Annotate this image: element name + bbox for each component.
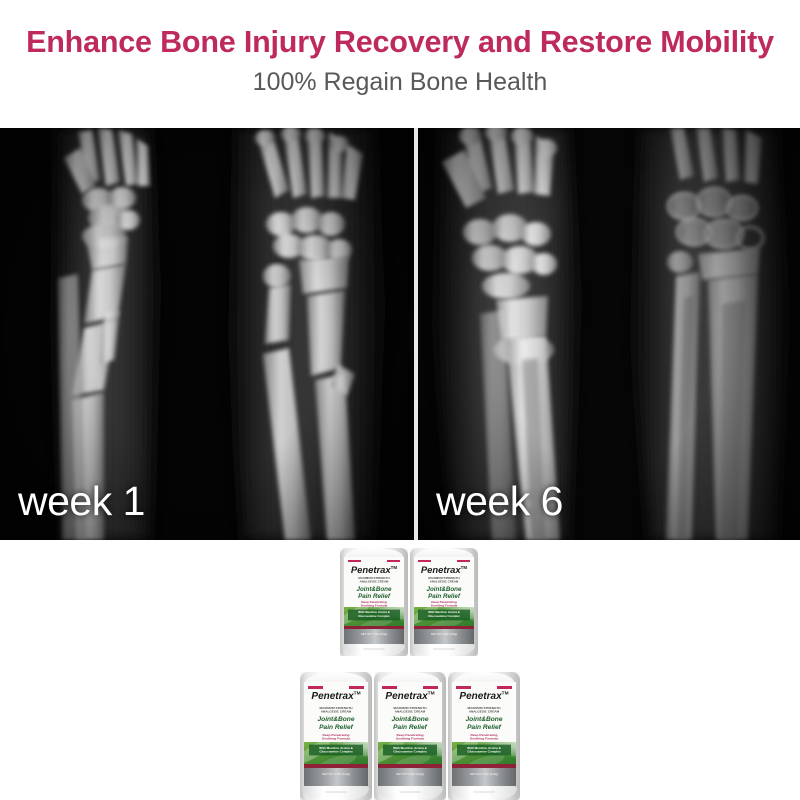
brand-subtitle-line2: ANALGESIC CREAM	[344, 581, 404, 585]
brand-name: PenetraxTM	[344, 565, 404, 574]
benefit-text: Deep Penetrating Soothing Formula	[452, 733, 515, 741]
tube-bottom-right[interactable]: PenetraxTM MAXIMUM STRENGTH ANALGESIC CR…	[448, 672, 520, 800]
page-title: Enhance Bone Injury Recovery and Restore…	[0, 0, 800, 60]
week-label-before: week 1	[18, 481, 145, 522]
brand-name: PenetraxTM	[414, 565, 474, 574]
brand-subtitle-line2: ANALGESIC CREAM	[378, 710, 441, 714]
brand-name: PenetraxTM	[452, 692, 515, 702]
claim-line2: Pain Relief	[414, 593, 474, 600]
week-label-after: week 6	[436, 481, 563, 522]
botanical-graphic: With Menthol, Arnica & Glucosamine Compl…	[304, 742, 367, 764]
callout-line2: Glucosamine Complex	[418, 615, 469, 618]
claim-line2: Pain Relief	[452, 724, 515, 732]
net-weight: NET WT 4 OZ (113g)	[344, 633, 404, 636]
benefit-line2: Soothing Formula	[378, 737, 441, 741]
label-accent-ticks	[418, 560, 471, 562]
tube-label: PenetraxTM MAXIMUM STRENGTH ANALGESIC CR…	[304, 682, 367, 786]
cap-band: NET WT 4 OZ (113g)	[344, 629, 404, 644]
brand-subtitle: MAXIMUM STRENGTH ANALGESIC CREAM	[452, 706, 515, 714]
tube-base	[343, 644, 406, 656]
tube-top-left[interactable]: PenetraxTM MAXIMUM STRENGTH ANALGESIC CR…	[340, 548, 408, 656]
ingredient-callout: With Menthol, Arnica & Glucosamine Compl…	[348, 609, 399, 619]
callout-line2: Glucosamine Complex	[383, 750, 438, 754]
tube-base	[451, 786, 517, 800]
brand-name: PenetraxTM	[304, 692, 367, 702]
callout-line2: Glucosamine Complex	[348, 615, 399, 618]
benefit-line2: Soothing Formula	[304, 737, 367, 741]
xray-panel-before: week 1	[0, 128, 414, 540]
ingredient-callout: With Menthol, Arnica & Glucosamine Compl…	[309, 745, 364, 756]
botanical-graphic: With Menthol, Arnica & Glucosamine Compl…	[414, 607, 474, 625]
brand-subtitle: MAXIMUM STRENGTH ANALGESIC CREAM	[378, 706, 441, 714]
brand-text: Penetrax	[459, 691, 501, 702]
brand-text: Penetrax	[311, 691, 353, 702]
tube-top-right[interactable]: PenetraxTM MAXIMUM STRENGTH ANALGESIC CR…	[410, 548, 478, 656]
label-accent-ticks	[456, 686, 512, 689]
cap-band: NET WT 4 OZ (113g)	[304, 768, 367, 786]
claim-line2: Pain Relief	[378, 724, 441, 732]
benefit-line1: Deep Penetrating	[414, 600, 474, 604]
tube-label: PenetraxTM MAXIMUM STRENGTH ANALGESIC CR…	[378, 682, 441, 786]
label-accent-ticks	[382, 686, 438, 689]
brand-subtitle: MAXIMUM STRENGTH ANALGESIC CREAM	[344, 577, 404, 584]
product-showcase: PenetraxTM MAXIMUM STRENGTH ANALGESIC CR…	[0, 540, 800, 800]
xray-panel-after: week 6	[418, 128, 800, 540]
claim-line2: Pain Relief	[344, 593, 404, 600]
brand-subtitle: MAXIMUM STRENGTH ANALGESIC CREAM	[414, 577, 474, 584]
claim-line1: Joint&Bone	[414, 586, 474, 593]
tube-bottom-center[interactable]: PenetraxTM MAXIMUM STRENGTH ANALGESIC CR…	[374, 672, 446, 800]
label-accent-ticks	[348, 560, 401, 562]
cap-band: NET WT 4 OZ (113g)	[452, 768, 515, 786]
benefit-line1: Deep Penetrating	[344, 600, 404, 604]
brand-subtitle-line2: ANALGESIC CREAM	[452, 710, 515, 714]
tube-label: PenetraxTM MAXIMUM STRENGTH ANALGESIC CR…	[452, 682, 515, 786]
claim-line1: Joint&Bone	[378, 716, 441, 724]
brand-name: PenetraxTM	[378, 692, 441, 702]
brand-subtitle: MAXIMUM STRENGTH ANALGESIC CREAM	[304, 706, 367, 714]
before-after-comparison: week 1	[0, 128, 800, 540]
product-claim: Joint&Bone Pain Relief	[304, 716, 367, 732]
brand-subtitle-line2: ANALGESIC CREAM	[304, 710, 367, 714]
tube-bottom-left[interactable]: PenetraxTM MAXIMUM STRENGTH ANALGESIC CR…	[300, 672, 372, 800]
callout-line2: Glucosamine Complex	[457, 750, 512, 754]
product-claim: Joint&Bone Pain Relief	[378, 716, 441, 732]
claim-line1: Joint&Bone	[344, 586, 404, 593]
botanical-graphic: With Menthol, Arnica & Glucosamine Compl…	[452, 742, 515, 764]
cap-band: NET WT 4 OZ (113g)	[378, 768, 441, 786]
callout-line2: Glucosamine Complex	[309, 750, 364, 754]
trademark-symbol: TM	[502, 691, 509, 696]
net-weight: NET WT 4 OZ (113g)	[378, 773, 441, 776]
trademark-symbol: TM	[461, 564, 468, 569]
botanical-graphic: With Menthol, Arnica & Glucosamine Compl…	[344, 607, 404, 625]
product-claim: Joint&Bone Pain Relief	[344, 586, 404, 601]
claim-line1: Joint&Bone	[452, 716, 515, 724]
tube-label: PenetraxTM MAXIMUM STRENGTH ANALGESIC CR…	[344, 557, 404, 645]
brand-text: Penetrax	[421, 564, 461, 575]
benefit-text: Deep Penetrating Soothing Formula	[344, 600, 404, 608]
product-claim: Joint&Bone Pain Relief	[452, 716, 515, 732]
trademark-symbol: TM	[354, 691, 361, 696]
net-weight: NET WT 4 OZ (113g)	[452, 773, 515, 776]
brand-text: Penetrax	[351, 564, 391, 575]
net-weight: NET WT 4 OZ (113g)	[414, 633, 474, 636]
cap-band: NET WT 4 OZ (113g)	[414, 629, 474, 644]
benefit-line2: Soothing Formula	[452, 737, 515, 741]
botanical-graphic: With Menthol, Arnica & Glucosamine Compl…	[378, 742, 441, 764]
tube-label: PenetraxTM MAXIMUM STRENGTH ANALGESIC CR…	[414, 557, 474, 645]
brand-text: Penetrax	[385, 691, 427, 702]
ingredient-callout: With Menthol, Arnica & Glucosamine Compl…	[457, 745, 512, 756]
ingredient-callout: With Menthol, Arnica & Glucosamine Compl…	[418, 609, 469, 619]
ingredient-callout: With Menthol, Arnica & Glucosamine Compl…	[383, 745, 438, 756]
benefit-text: Deep Penetrating Soothing Formula	[414, 600, 474, 608]
tube-base	[377, 786, 443, 800]
brand-subtitle-line1: MAXIMUM STRENGTH	[304, 706, 367, 710]
page-subtitle: 100% Regain Bone Health	[0, 60, 800, 97]
benefit-text: Deep Penetrating Soothing Formula	[378, 733, 441, 741]
brand-subtitle-line2: ANALGESIC CREAM	[414, 581, 474, 585]
promo-header: Enhance Bone Injury Recovery and Restore…	[0, 0, 800, 128]
benefit-text: Deep Penetrating Soothing Formula	[304, 733, 367, 741]
product-claim: Joint&Bone Pain Relief	[414, 586, 474, 601]
tube-base	[303, 786, 369, 800]
claim-line2: Pain Relief	[304, 724, 367, 732]
brand-subtitle-line1: MAXIMUM STRENGTH	[452, 706, 515, 710]
brand-subtitle-line1: MAXIMUM STRENGTH	[378, 706, 441, 710]
trademark-symbol: TM	[391, 564, 398, 569]
trademark-symbol: TM	[428, 691, 435, 696]
claim-line1: Joint&Bone	[304, 716, 367, 724]
net-weight: NET WT 4 OZ (113g)	[304, 773, 367, 776]
label-accent-ticks	[308, 686, 364, 689]
tube-base	[413, 644, 476, 656]
